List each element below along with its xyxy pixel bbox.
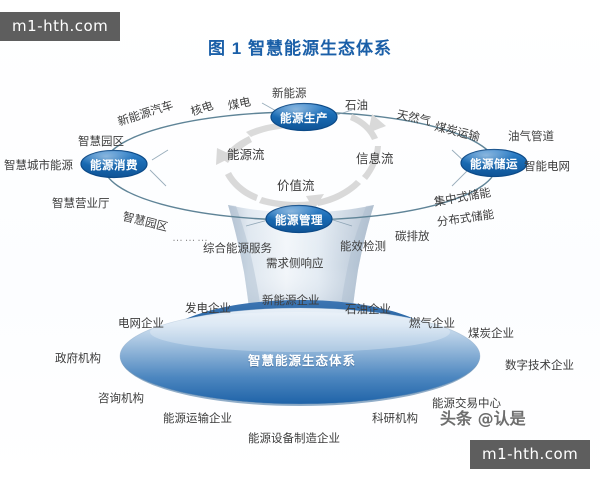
ring-node-label-consumption: 能源消费 (81, 157, 147, 173)
satellite-label: 智能电网 (524, 158, 570, 174)
satellite-label: 智慧营业厅 (52, 195, 110, 211)
actor-label: 发电企业 (185, 300, 231, 316)
actor-label: 科研机构 (372, 410, 418, 426)
satellite-label: 碳排放 (395, 228, 430, 244)
satellite-label: 智慧园区 (78, 133, 124, 149)
flow-label: 信息流 (356, 148, 394, 167)
flow-label: 价值流 (277, 175, 315, 194)
actor-label: 石油企业 (345, 301, 391, 317)
actor-label: 电网企业 (118, 315, 164, 331)
actor-label: 能源运输企业 (163, 410, 232, 426)
actor-label: 能源设备制造企业 (248, 430, 340, 446)
ring-node-label-storage: 能源储运 (461, 156, 527, 172)
satellite-label: 综合能源服务 (203, 240, 272, 256)
flow-label: 能源流 (227, 144, 265, 163)
ellipsis-dots: ……… (172, 232, 210, 244)
watermark-badge-top: m1-hth.com (0, 12, 120, 41)
satellite-label: 新能源 (272, 85, 307, 101)
actor-label: 煤炭企业 (468, 325, 514, 341)
actor-label: 新能源企业 (262, 292, 320, 308)
actor-label: 燃气企业 (409, 315, 455, 331)
watermark-badge-bottom: m1-hth.com (470, 440, 590, 469)
satellite-label: 需求侧响应 (266, 255, 324, 271)
actor-label: 咨询机构 (98, 390, 144, 406)
actor-label: 能源交易中心 (432, 395, 501, 411)
actor-label: 政府机构 (55, 350, 101, 366)
actor-label: 数字技术企业 (505, 357, 574, 373)
satellite-label: 能效检测 (340, 238, 386, 254)
satellite-label: 石油 (345, 97, 368, 113)
ring-node-label-management: 能源管理 (266, 212, 332, 228)
ring-node-label-production: 能源生产 (271, 110, 337, 126)
diagram-canvas: 图 1 智慧能源生态体系 m1-hth.com m1-hth.com 头条 @认… (0, 0, 600, 480)
satellite-label: 智慧城市能源 (4, 157, 73, 173)
satellite-label: 油气管道 (508, 128, 554, 144)
ecosystem-label: 智慧能源生态体系 (248, 350, 356, 369)
